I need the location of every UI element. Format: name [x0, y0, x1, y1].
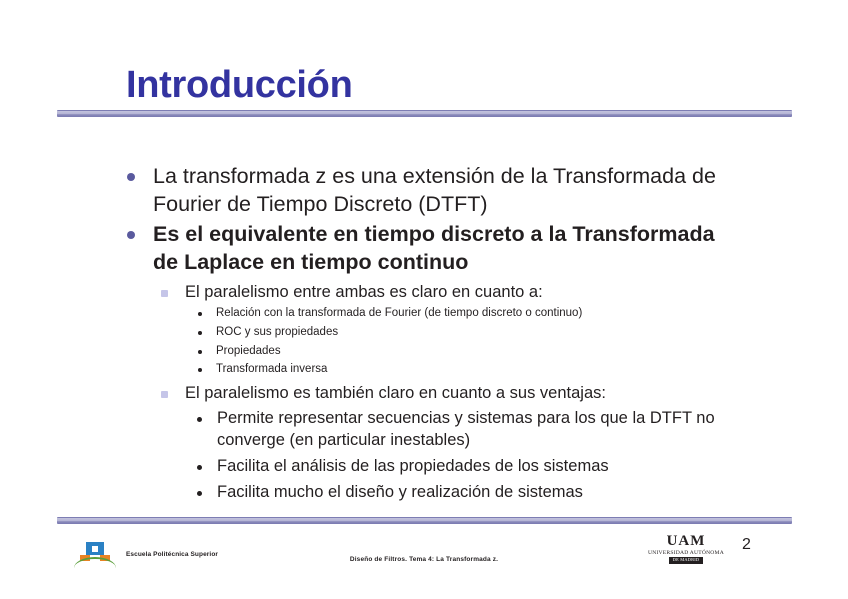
uam-subtitle-label: UNIVERSIDAD AUTÓNOMA — [645, 550, 727, 556]
bullet-dot-icon — [197, 491, 202, 496]
title-divider — [57, 110, 792, 117]
list-item-label: Facilita mucho el diseño y realización d… — [217, 482, 583, 504]
footer-left-logo: Escuela Politécnica Superior — [72, 541, 218, 567]
list-item: Transformada inversa — [0, 361, 848, 378]
list-item: ROC y sus propiedades — [0, 324, 848, 341]
footer-divider — [57, 517, 792, 524]
list-item-label: Facilita el análisis de las propiedades … — [217, 456, 609, 478]
bullet-item-2: Es el equivalente en tiempo discreto a l… — [0, 221, 848, 277]
list-item-label: ROC y sus propiedades — [216, 324, 338, 341]
list-item: Facilita mucho el diseño y realización d… — [0, 482, 848, 504]
slide: Introducción La transformada z es una ex… — [0, 0, 848, 599]
slide-body: La transformada z es una extensión de la… — [0, 163, 848, 503]
list-item: Relación con la transformada de Fourier … — [0, 305, 848, 322]
list-item-label: Transformada inversa — [216, 361, 327, 378]
sub-heading-2-label: El paralelismo es también claro en cuant… — [185, 383, 606, 404]
sub-heading-1-label: El paralelismo entre ambas es claro en c… — [185, 282, 543, 303]
list-item-label: Propiedades — [216, 343, 281, 360]
page-number: 2 — [742, 536, 751, 554]
sub-heading-2: El paralelismo es también claro en cuant… — [0, 383, 848, 404]
bullet-dot-icon — [127, 231, 135, 239]
bullet-dot-icon — [198, 350, 202, 354]
list-item: Propiedades — [0, 343, 848, 360]
list-item: Permite representar secuencias y sistema… — [0, 408, 848, 452]
uam-logo: UAM UNIVERSIDAD AUTÓNOMA DE MADRID — [645, 534, 727, 564]
list-item-label: Permite representar secuencias y sistema… — [217, 408, 733, 452]
list-item-label: Relación con la transformada de Fourier … — [216, 305, 582, 322]
bullet-item-1: La transformada z es una extensión de la… — [0, 163, 848, 219]
sub-heading-1: El paralelismo entre ambas es claro en c… — [0, 282, 848, 303]
list-item: Facilita el análisis de las propiedades … — [0, 456, 848, 478]
bullet-square-icon — [161, 391, 168, 398]
bullet-dot-icon — [198, 368, 202, 372]
bullet-dot-icon — [198, 331, 202, 335]
bullet-item-1-label: La transformada z es una extensión de la… — [153, 163, 729, 219]
page-title: Introducción — [126, 66, 353, 106]
escuela-politecnica-logo-icon — [72, 541, 118, 567]
bullet-dot-icon — [198, 312, 202, 316]
bullet-dot-icon — [127, 173, 135, 181]
bullet-square-icon — [161, 290, 168, 297]
bullet-item-2-label: Es el equivalente en tiempo discreto a l… — [153, 221, 729, 277]
uam-mark-label: UAM — [645, 534, 727, 549]
bullet-dot-icon — [197, 417, 202, 422]
bullet-dot-icon — [197, 465, 202, 470]
uam-bar-label: DE MADRID — [669, 557, 703, 564]
